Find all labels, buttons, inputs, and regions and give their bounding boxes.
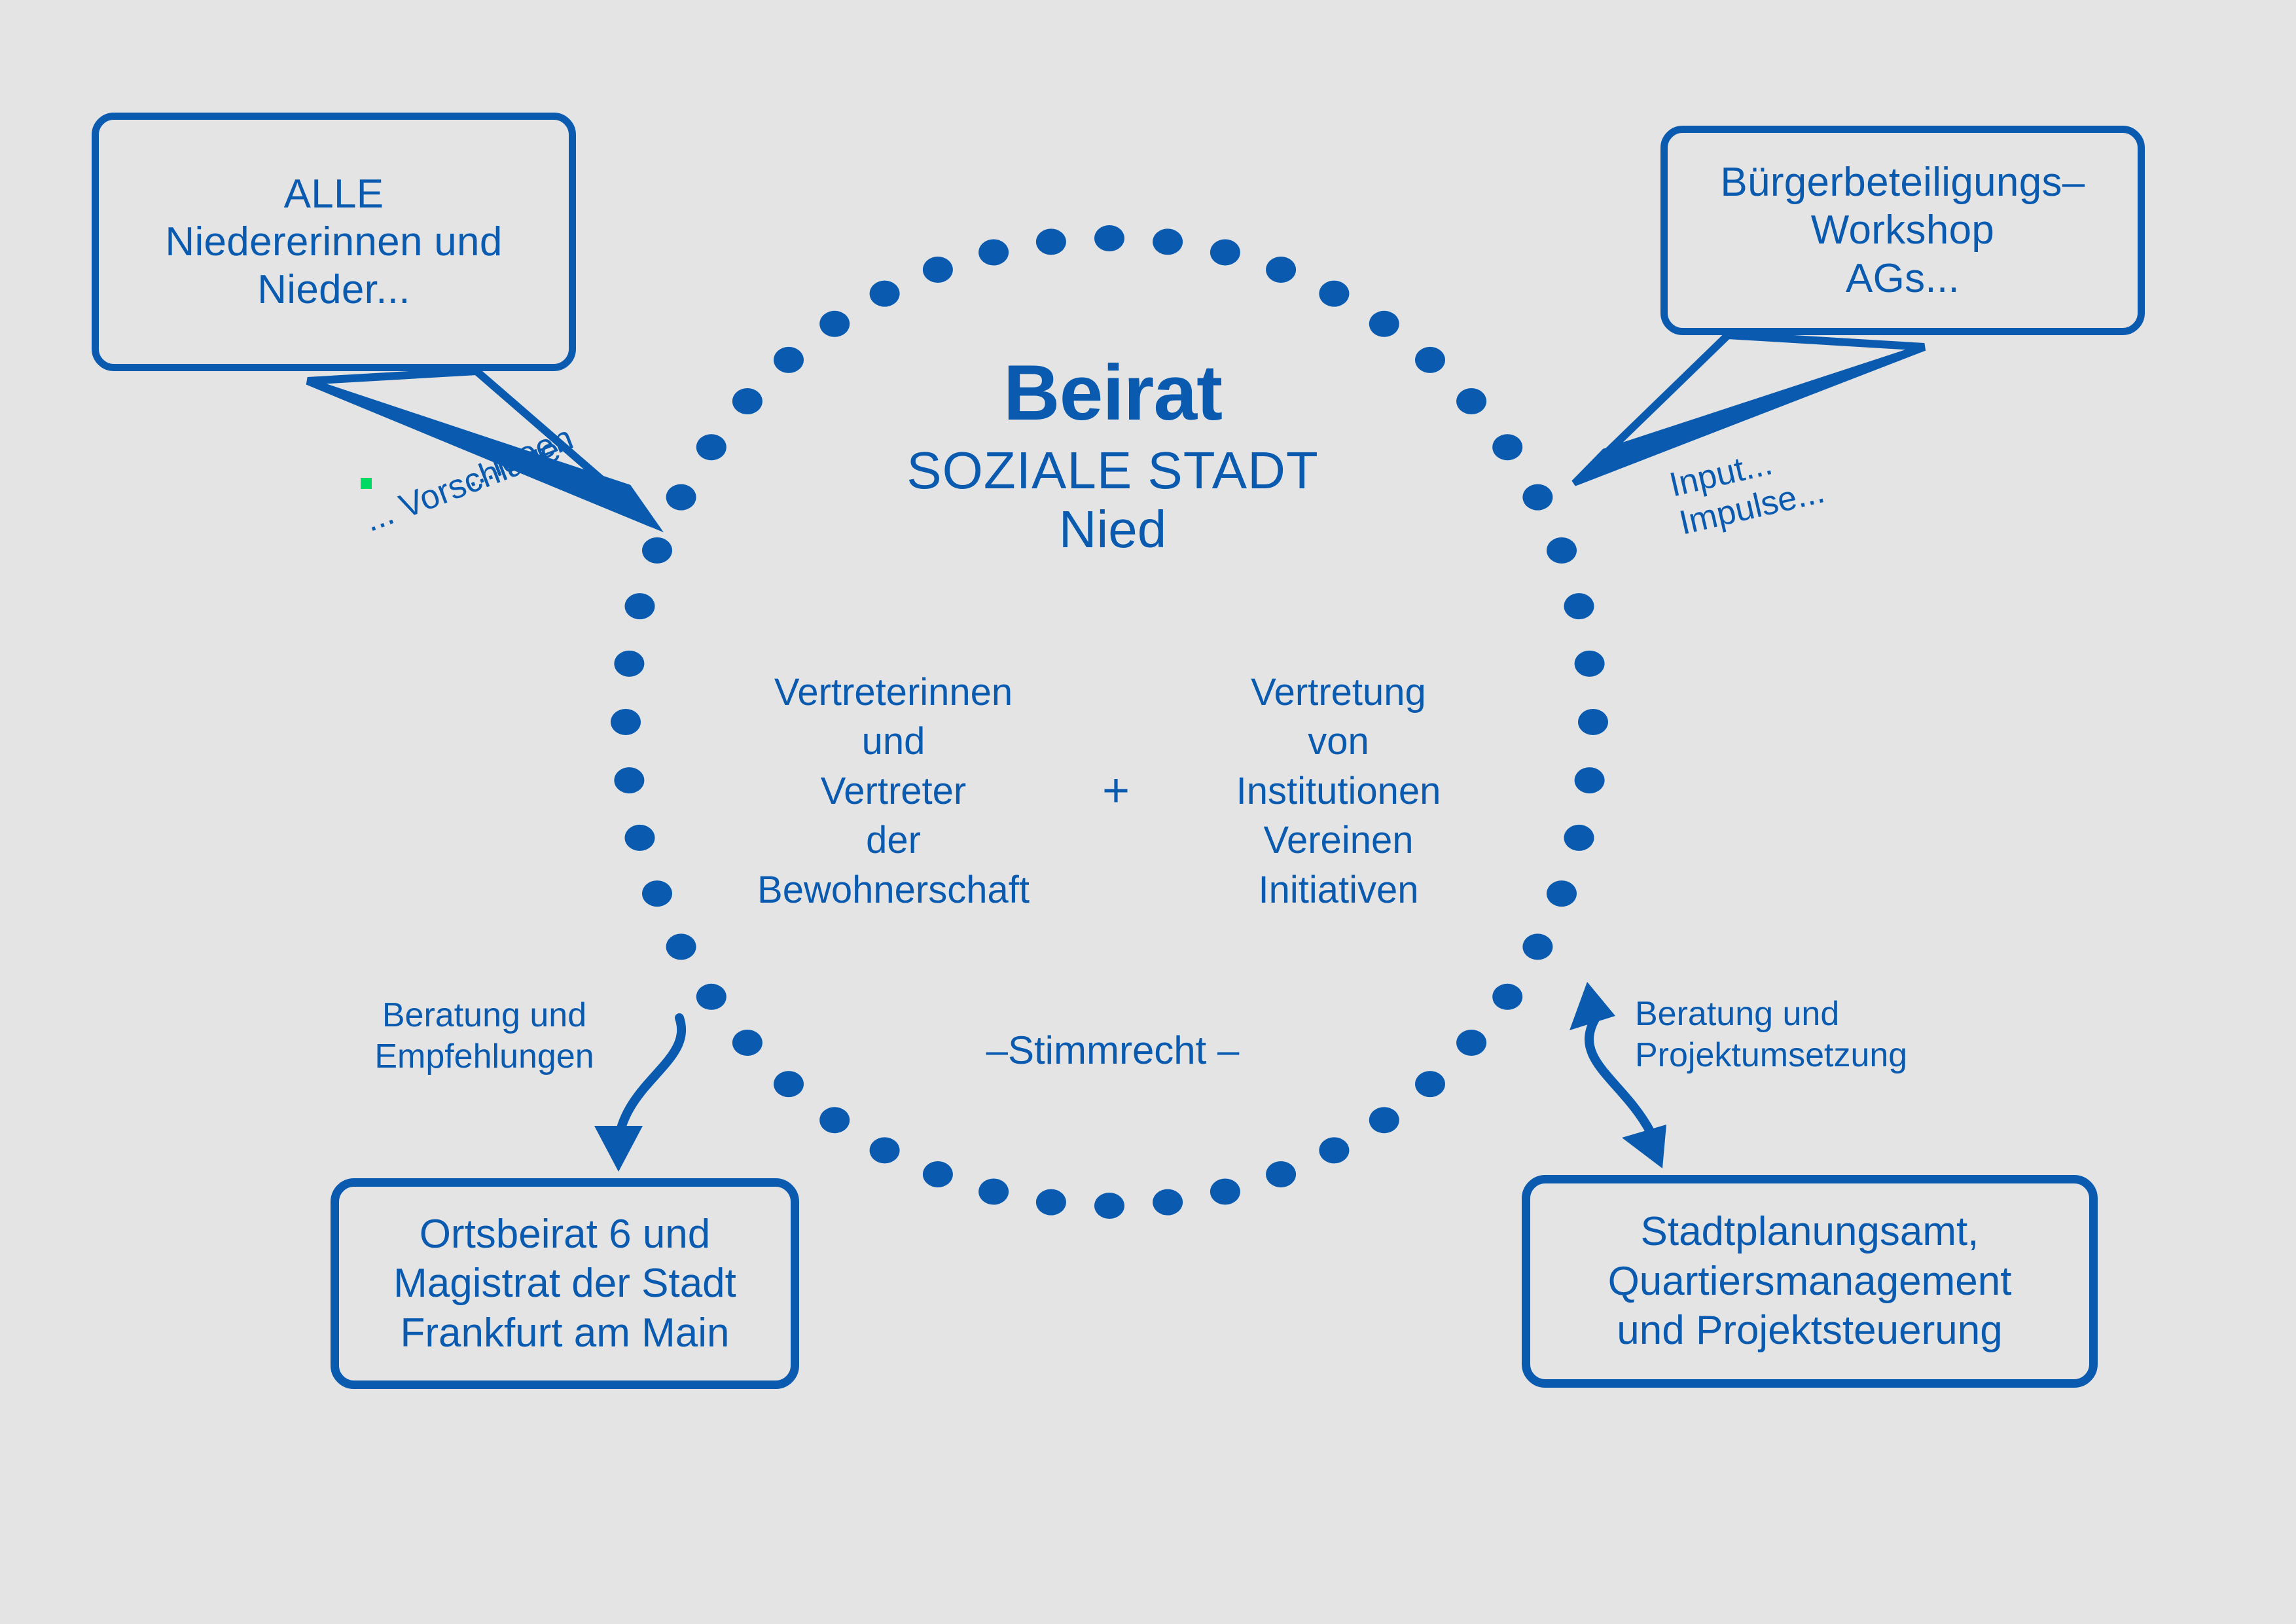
voting-rights-note: –Stimmrecht –: [720, 1028, 1505, 1073]
speech-bubble-participation-text: Bürgerbeteiligungs– Workshop AGs...: [1720, 158, 2085, 302]
center-title-block: Beirat SOZIALE STADT Nied: [720, 353, 1505, 558]
arrow-up-right-head: [1570, 982, 1615, 1030]
composition-institutions: Vertretung von Institutionen Vereinen In…: [1155, 668, 1522, 914]
page-title: Beirat: [720, 353, 1505, 432]
arrow-down-right-head: [1622, 1125, 1666, 1168]
node-ortsbeirat-magistrat[interactable]: Ortsbeirat 6 und Magistrat der Stadt Fra…: [331, 1178, 799, 1389]
label-beratung-empfehlungen: Beratung und Empfehlungen: [340, 995, 628, 1078]
node-stadtplanungsamt-text: Stadtplanungsamt, Quartiersmanagement un…: [1608, 1207, 2012, 1356]
diagram-canvas: ALLE Niedererinnen und Nieder... Bürgerb…: [0, 0, 2296, 1624]
label-beratung-projektumsetzung: Beratung und Projektumsetzung: [1635, 994, 1975, 1077]
plus-sign: +: [1077, 767, 1155, 814]
node-ortsbeirat-magistrat-text: Ortsbeirat 6 und Magistrat der Stadt Fra…: [393, 1210, 736, 1358]
speech-bubble-residents-text: ALLE Niedererinnen und Nieder...: [165, 170, 502, 314]
speech-bubble-residents[interactable]: ALLE Niedererinnen und Nieder...: [92, 113, 576, 371]
green-marker-icon: [361, 478, 372, 489]
speech-bubble-participation[interactable]: Bürgerbeteiligungs– Workshop AGs...: [1660, 126, 2145, 335]
center-subtitle-line1: SOZIALE STADT: [720, 441, 1505, 500]
center-subtitle-line2: Nied: [720, 500, 1505, 559]
center-composition: Vertreterinnen und Vertreter der Bewohne…: [681, 668, 1551, 914]
arrow-down-left-head: [594, 1126, 643, 1172]
composition-residents: Vertreterinnen und Vertreter der Bewohne…: [710, 668, 1077, 914]
node-stadtplanungsamt[interactable]: Stadtplanungsamt, Quartiersmanagement un…: [1522, 1175, 2098, 1388]
